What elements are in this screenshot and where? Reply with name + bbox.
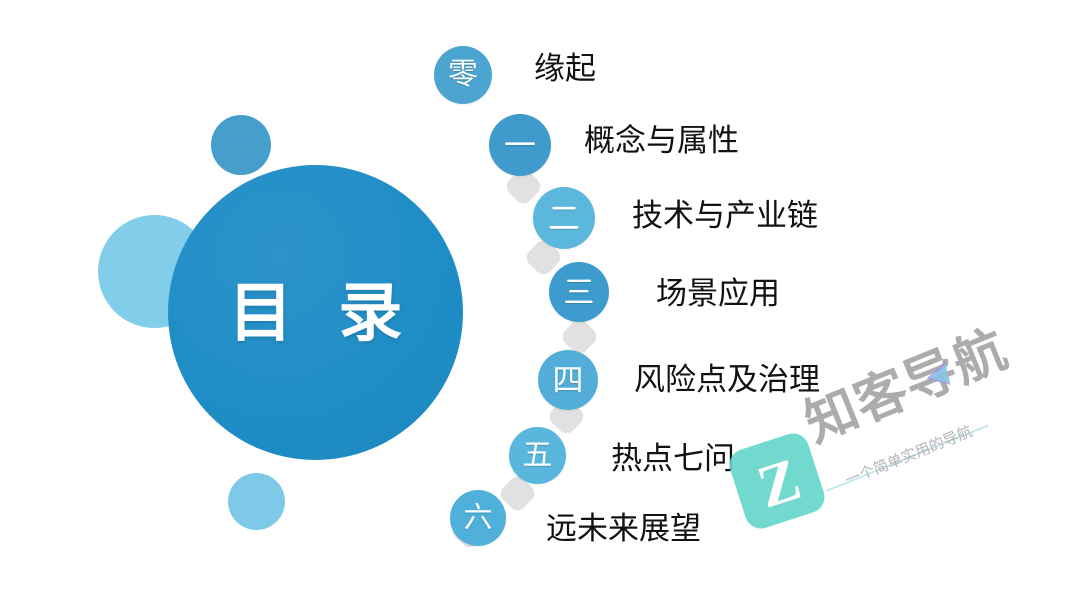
- watermark-subtitle: 一个简单实用的导航: [842, 420, 975, 490]
- agenda-label-2[interactable]: 技术与产业链: [632, 200, 818, 231]
- agenda-label-5[interactable]: 热点七问: [611, 443, 735, 474]
- agenda-node-4[interactable]: 四: [538, 350, 598, 410]
- agenda-numeral-5: 五: [523, 441, 553, 471]
- agenda-numeral-3: 三: [564, 277, 595, 308]
- agenda-label-0[interactable]: 缘起: [534, 53, 596, 84]
- agenda-label-3[interactable]: 场景应用: [656, 278, 780, 309]
- watermark-logo-letter: Z: [737, 441, 820, 524]
- agenda-numeral-1: 一: [504, 129, 536, 161]
- table-of-contents-circle: 目 录: [168, 165, 463, 460]
- agenda-numeral-4: 四: [553, 365, 584, 396]
- slide-canvas: 目 录 零 一 二 三 四 五 六 缘起 概念与属性 技术与产业链 场景应用 风…: [0, 0, 1080, 607]
- decor-circle-bottom: [228, 473, 285, 530]
- agenda-node-0[interactable]: 零: [434, 46, 492, 104]
- watermark-title: 知客导航: [792, 307, 1017, 456]
- watermark-logo-box: [725, 429, 828, 532]
- agenda-node-5[interactable]: 五: [509, 427, 566, 484]
- watermark-underline: [826, 425, 989, 492]
- decor-circle-top: [211, 115, 271, 175]
- page-title: 目 录: [215, 281, 417, 345]
- agenda-label-4[interactable]: 风险点及治理: [634, 364, 820, 395]
- agenda-node-6[interactable]: 六: [450, 490, 506, 546]
- agenda-node-3[interactable]: 三: [549, 262, 609, 322]
- watermark-arrow-icon: [923, 362, 950, 391]
- agenda-node-2[interactable]: 二: [533, 187, 595, 249]
- agenda-node-1[interactable]: 一: [489, 114, 551, 176]
- agenda-numeral-0: 零: [448, 60, 478, 90]
- agenda-numeral-2: 二: [548, 202, 580, 234]
- agenda-label-6[interactable]: 远未来展望: [546, 513, 701, 544]
- watermark-arrow-accent-icon: [928, 364, 950, 388]
- agenda-label-1[interactable]: 概念与属性: [584, 125, 739, 156]
- agenda-numeral-6: 六: [463, 504, 492, 533]
